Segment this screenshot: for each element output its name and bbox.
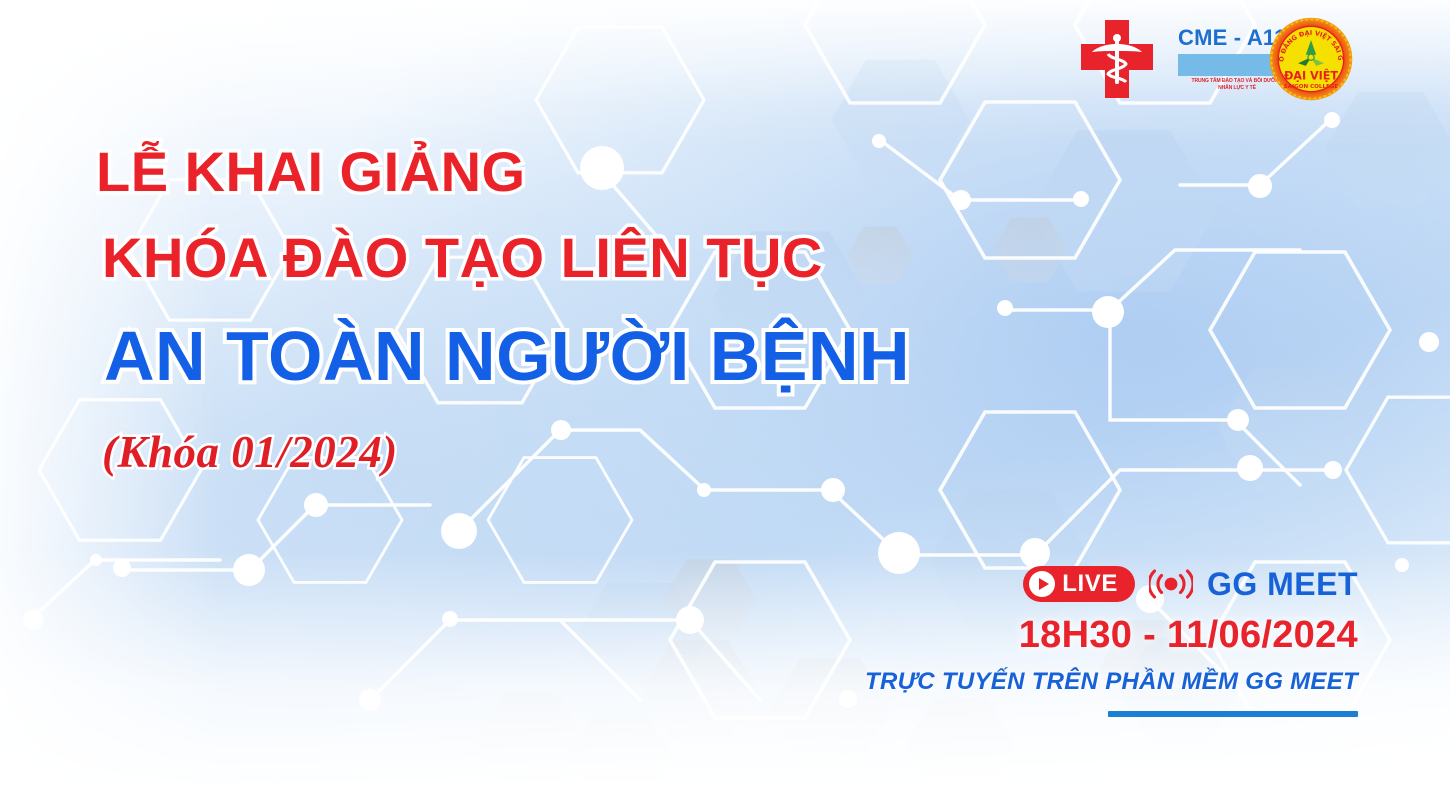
- headline-block: LỄ KHAI GIẢNG KHÓA ĐÀO TẠO LIÊN TỤC AN T…: [96, 140, 910, 478]
- cme-a111-logo: CME - A111 TRUNG TÂM ĐÀO TẠO VÀ BỒI DƯỠN…: [1078, 14, 1246, 104]
- broadcast-note: TRỰC TUYẾN TRÊN PHẦN MỀM GG MEET: [865, 668, 1358, 696]
- headline-subtitle: (Khóa 01/2024): [102, 426, 910, 478]
- play-icon: [1029, 571, 1055, 597]
- seal-main-text: ĐẠI VIỆT: [1284, 70, 1338, 83]
- poster-canvas: CME - A111 TRUNG TÂM ĐÀO TẠO VÀ BỒI DƯỠN…: [0, 0, 1450, 800]
- headline-line-2: KHÓA ĐÀO TẠO LIÊN TỤC: [102, 226, 910, 290]
- cme-text-block: CME - A111 TRUNG TÂM ĐÀO TẠO VÀ BỒI DƯỠN…: [1126, 20, 1246, 98]
- broadcast-block: LIVE GG MEET 18H30 - 11/06/2024 TRỰC TUY…: [865, 562, 1358, 717]
- live-badge-label: LIVE: [1062, 572, 1118, 596]
- seal-sub-text: SAIGON COLLEGE: [1284, 84, 1339, 90]
- broadcast-row: LIVE GG MEET: [865, 562, 1358, 606]
- headline-line-3: AN TOÀN NGƯỜI BỆNH: [104, 316, 910, 396]
- accent-underline: [1108, 711, 1358, 717]
- broadcast-signal-icon: [1149, 567, 1193, 601]
- live-badge[interactable]: LIVE: [1023, 566, 1135, 602]
- event-datetime: 18H30 - 11/06/2024: [865, 614, 1358, 657]
- platform-label: GG MEET: [1207, 566, 1358, 603]
- headline-line-1: LỄ KHAI GIẢNG: [96, 140, 910, 204]
- logo-row: CME - A111 TRUNG TÂM ĐÀO TẠO VÀ BỒI DƯỠN…: [1078, 14, 1354, 104]
- dai-viet-college-seal: CAO ĐẲNG ĐẠI VIỆT SÀI GÒN ĐẠI VIỆT SAIGO…: [1268, 16, 1354, 102]
